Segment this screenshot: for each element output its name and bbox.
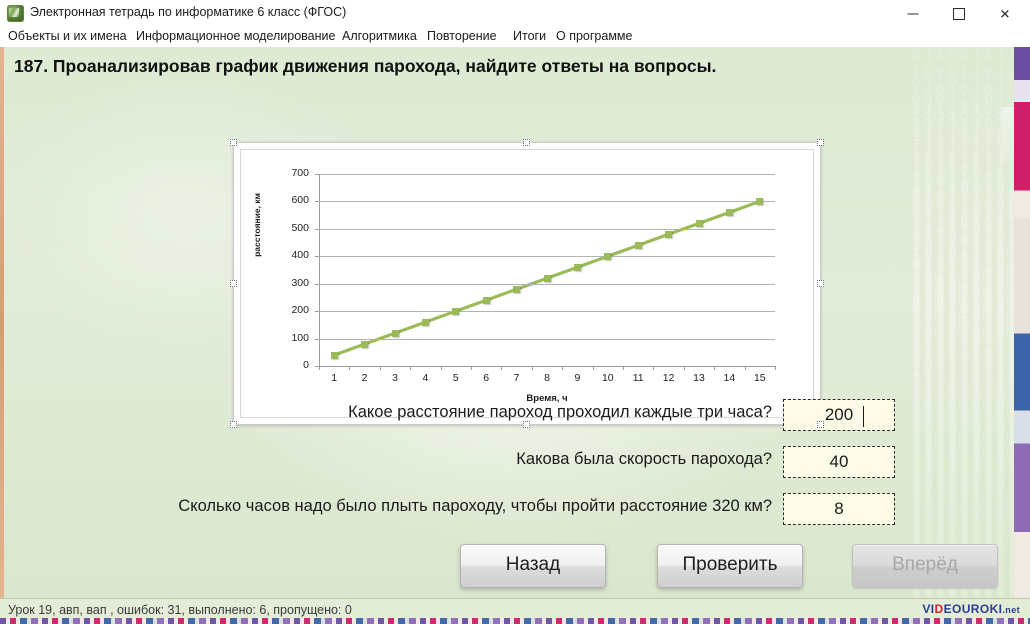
back-button[interactable]: Назад	[460, 544, 606, 588]
menu-item-about[interactable]: О программе	[556, 29, 632, 43]
answer-value-1: 200	[784, 405, 894, 425]
chart-gridline	[319, 339, 775, 340]
selection-handle-tc[interactable]	[523, 139, 530, 146]
y-axis-tick-label: 700	[261, 167, 309, 179]
answer-input-2[interactable]: 40	[783, 446, 895, 478]
check-button-label: Проверить	[658, 554, 802, 576]
chart-data-point	[756, 198, 763, 205]
chart-gridline	[319, 311, 775, 312]
menu-bar: Объекты и их имена Информационное модели…	[0, 27, 1030, 47]
back-button-label: Назад	[461, 554, 605, 576]
chart-data-point	[635, 242, 642, 249]
minimize-icon	[908, 13, 919, 14]
videouroki-logo: VIDEOUROKI.net	[922, 602, 1020, 616]
x-axis-tick-mark	[319, 366, 320, 370]
window-title: Электронная тетрадь по информатике 6 кла…	[30, 5, 346, 19]
answer-value-3: 8	[784, 499, 894, 519]
x-axis-tick-mark	[775, 366, 776, 370]
selection-handle-tr[interactable]	[817, 139, 824, 146]
question-label-3: Сколько часов надо было плыть пароходу, …	[178, 497, 772, 516]
x-axis-tick-mark	[380, 366, 381, 370]
x-axis-tick-mark	[562, 366, 563, 370]
chart-gridline	[319, 229, 775, 230]
chart-data-point	[422, 319, 429, 326]
chart-data-point	[361, 341, 368, 348]
x-axis-tick-label: 11	[625, 372, 651, 384]
selection-handle-mr[interactable]	[817, 280, 824, 287]
answer-input-1[interactable]: 200	[783, 399, 895, 431]
status-bar: Урок 19, авп, вап , ошибок: 31, выполнен…	[0, 598, 1030, 624]
x-axis-tick-label: 6	[473, 372, 499, 384]
check-button[interactable]: Проверить	[657, 544, 803, 588]
x-axis-tick-label: 15	[747, 372, 773, 384]
x-axis-tick-mark	[410, 366, 411, 370]
page-title: 187. Проанализировав график движения пар…	[14, 56, 914, 77]
x-axis-tick-label: 2	[352, 372, 378, 384]
chart-data-point	[726, 209, 733, 216]
x-axis-tick-label: 12	[656, 372, 682, 384]
status-color-stripe	[0, 618, 1030, 624]
chart-gridline	[319, 174, 775, 175]
chart-plot-frame: расстояние, км Время, ч 0100200300400500…	[240, 149, 814, 418]
right-color-strip	[1014, 47, 1030, 598]
x-axis-tick-mark	[501, 366, 502, 370]
chart-data-point	[452, 308, 459, 315]
chart-data-point	[574, 264, 581, 271]
y-axis-tick-label: 600	[261, 194, 309, 206]
chart-gridline	[319, 284, 775, 285]
y-axis-tick-label: 0	[261, 359, 309, 371]
chart-data-point	[331, 352, 338, 359]
x-axis-tick-label: 14	[716, 372, 742, 384]
x-axis-tick-mark	[471, 366, 472, 370]
chart-data-point	[544, 275, 551, 282]
x-axis-line	[319, 366, 775, 367]
right-decoration	[1002, 107, 1014, 163]
menu-item-algorithmics[interactable]: Алгоритмика	[342, 29, 417, 43]
selection-handle-ml[interactable]	[230, 280, 237, 287]
x-axis-tick-mark	[653, 366, 654, 370]
maximize-icon	[953, 8, 965, 20]
chart-data-point	[513, 286, 520, 293]
minimize-button[interactable]	[890, 0, 936, 27]
logo-part-d: D	[935, 602, 944, 616]
chart-data-point	[696, 220, 703, 227]
x-axis-tick-mark	[532, 366, 533, 370]
logo-part-2: EOUROKI	[944, 602, 1003, 616]
y-axis-tick-label: 200	[261, 304, 309, 316]
y-axis-line	[319, 174, 320, 366]
close-button[interactable]: ✕	[982, 0, 1028, 27]
status-text: Урок 19, авп, вап , ошибок: 31, выполнен…	[8, 603, 352, 617]
x-axis-tick-mark	[349, 366, 350, 370]
x-axis-tick-mark	[745, 366, 746, 370]
left-accent-stripe	[0, 47, 4, 598]
x-axis-tick-label: 3	[382, 372, 408, 384]
selection-handle-bc[interactable]	[523, 421, 530, 428]
x-axis-tick-label: 13	[686, 372, 712, 384]
x-axis-tick-label: 9	[564, 372, 590, 384]
chart-data-point	[665, 231, 672, 238]
y-axis-tick-label: 400	[261, 249, 309, 261]
y-axis-tick-label: 100	[261, 332, 309, 344]
menu-item-results[interactable]: Итоги	[513, 29, 546, 43]
menu-item-modeling[interactable]: Информационное моделирование	[136, 29, 335, 43]
x-axis-tick-label: 7	[504, 372, 530, 384]
application-window: Электронная тетрадь по информатике 6 кла…	[0, 0, 1030, 624]
chart-plot-area: расстояние, км Время, ч 0100200300400500…	[241, 150, 813, 417]
x-axis-tick-label: 10	[595, 372, 621, 384]
x-axis-tick-mark	[623, 366, 624, 370]
x-axis-tick-label: 5	[443, 372, 469, 384]
x-axis-tick-label: 8	[534, 372, 560, 384]
close-icon: ✕	[1000, 7, 1011, 20]
logo-part-1: VI	[922, 602, 934, 616]
chart-gridline	[319, 256, 775, 257]
selection-handle-bl[interactable]	[230, 421, 237, 428]
x-axis-tick-mark	[714, 366, 715, 370]
menu-item-review[interactable]: Повторение	[427, 29, 497, 43]
chart-data-point	[392, 330, 399, 337]
question-row-2: Какова была скорость парохода? 40	[60, 446, 780, 480]
menu-item-objects[interactable]: Объекты и их имена	[8, 29, 127, 43]
question-row-1: Какое расстояние пароход проходил каждые…	[60, 399, 780, 433]
y-axis-tick-label: 500	[261, 222, 309, 234]
x-axis-tick-mark	[441, 366, 442, 370]
title-bar: Электронная тетрадь по информатике 6 кла…	[0, 0, 1030, 28]
question-label-2: Какова была скорость парохода?	[516, 450, 772, 469]
answer-input-3[interactable]: 8	[783, 493, 895, 525]
x-axis-tick-label: 4	[412, 372, 438, 384]
logo-domain: .net	[1002, 605, 1020, 615]
maximize-button[interactable]	[936, 0, 982, 27]
selection-handle-br[interactable]	[817, 421, 824, 428]
question-row-3: Сколько часов надо было плыть пароходу, …	[10, 493, 780, 527]
x-axis-tick-mark	[684, 366, 685, 370]
x-axis-tick-mark	[593, 366, 594, 370]
forward-button[interactable]: Вперёд	[852, 544, 998, 588]
chart-object[interactable]: расстояние, км Время, ч 0100200300400500…	[233, 142, 821, 425]
slide-area: 01001110010011111000101101 1000010110001…	[0, 47, 1030, 598]
app-icon	[7, 5, 24, 22]
chart-gridline	[319, 201, 775, 202]
x-axis-tick-label: 1	[321, 372, 347, 384]
forward-button-label: Вперёд	[853, 554, 997, 576]
answer-value-2: 40	[784, 452, 894, 472]
chart-data-point	[604, 253, 611, 260]
question-label-1: Какое расстояние пароход проходил каждые…	[348, 403, 772, 422]
chart-data-point	[483, 297, 490, 304]
y-axis-tick-label: 300	[261, 277, 309, 289]
selection-handle-tl[interactable]	[230, 139, 237, 146]
text-caret	[863, 406, 864, 427]
